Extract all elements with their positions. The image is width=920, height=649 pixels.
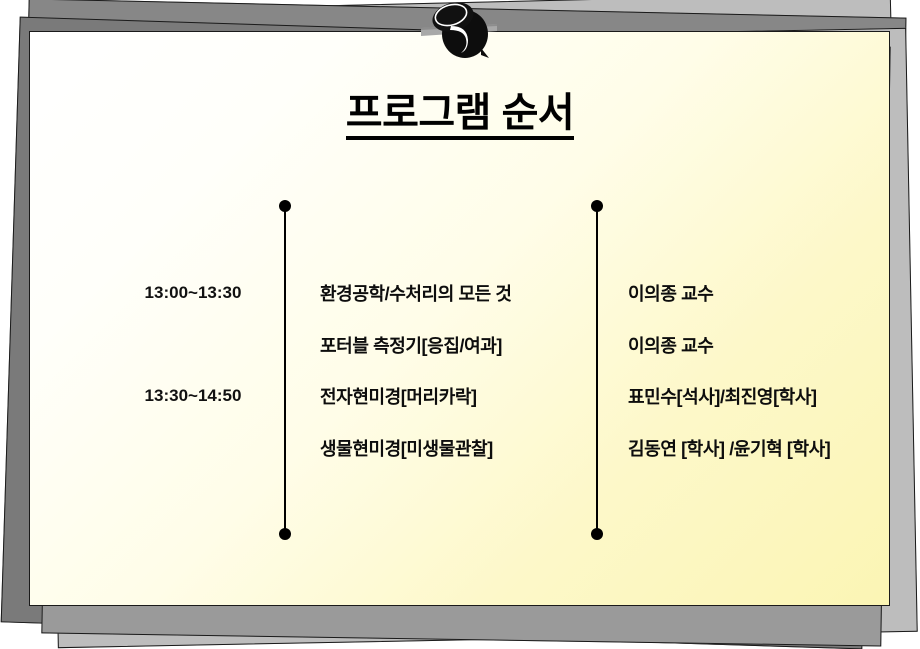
schedule-presenter: 이의종 교수 [628,332,888,358]
schedule-topic: 전자현미경[머리카락] [320,383,590,409]
slide-stage: 프로그램 순서 13:00~13:30 환경공학/수처리의 모든 것 이의종 교… [0,0,920,649]
schedule-topic: 생물현미경[미생물관찰] [320,435,590,461]
schedule-presenter: 표민수[석사]/최진영[학사] [628,383,888,409]
schedule-presenter: 이의종 교수 [628,280,888,306]
schedule-time: 13:00~13:30 [118,283,268,303]
schedule-topic: 포터블 측정기[응집/여과] [320,332,590,358]
table-row: 포터블 측정기[응집/여과] 이의종 교수 [0,328,920,362]
table-row: 생물현미경[미생물관찰] 김동연 [학사] /윤기혁 [학사] [0,431,920,465]
schedule-presenter: 김동연 [학사] /윤기혁 [학사] [628,435,888,461]
table-row: 13:30~14:50 전자현미경[머리카락] 표민수[석사]/최진영[학사] [0,379,920,413]
page-title-text: 프로그램 순서 [346,92,574,140]
pushpin-icon [421,0,497,62]
schedule-topic: 환경공학/수처리의 모든 것 [320,280,590,306]
page-title: 프로그램 순서 [0,92,920,140]
table-row: 13:00~13:30 환경공학/수처리의 모든 것 이의종 교수 [0,276,920,310]
schedule-time: 13:30~14:50 [118,386,268,406]
